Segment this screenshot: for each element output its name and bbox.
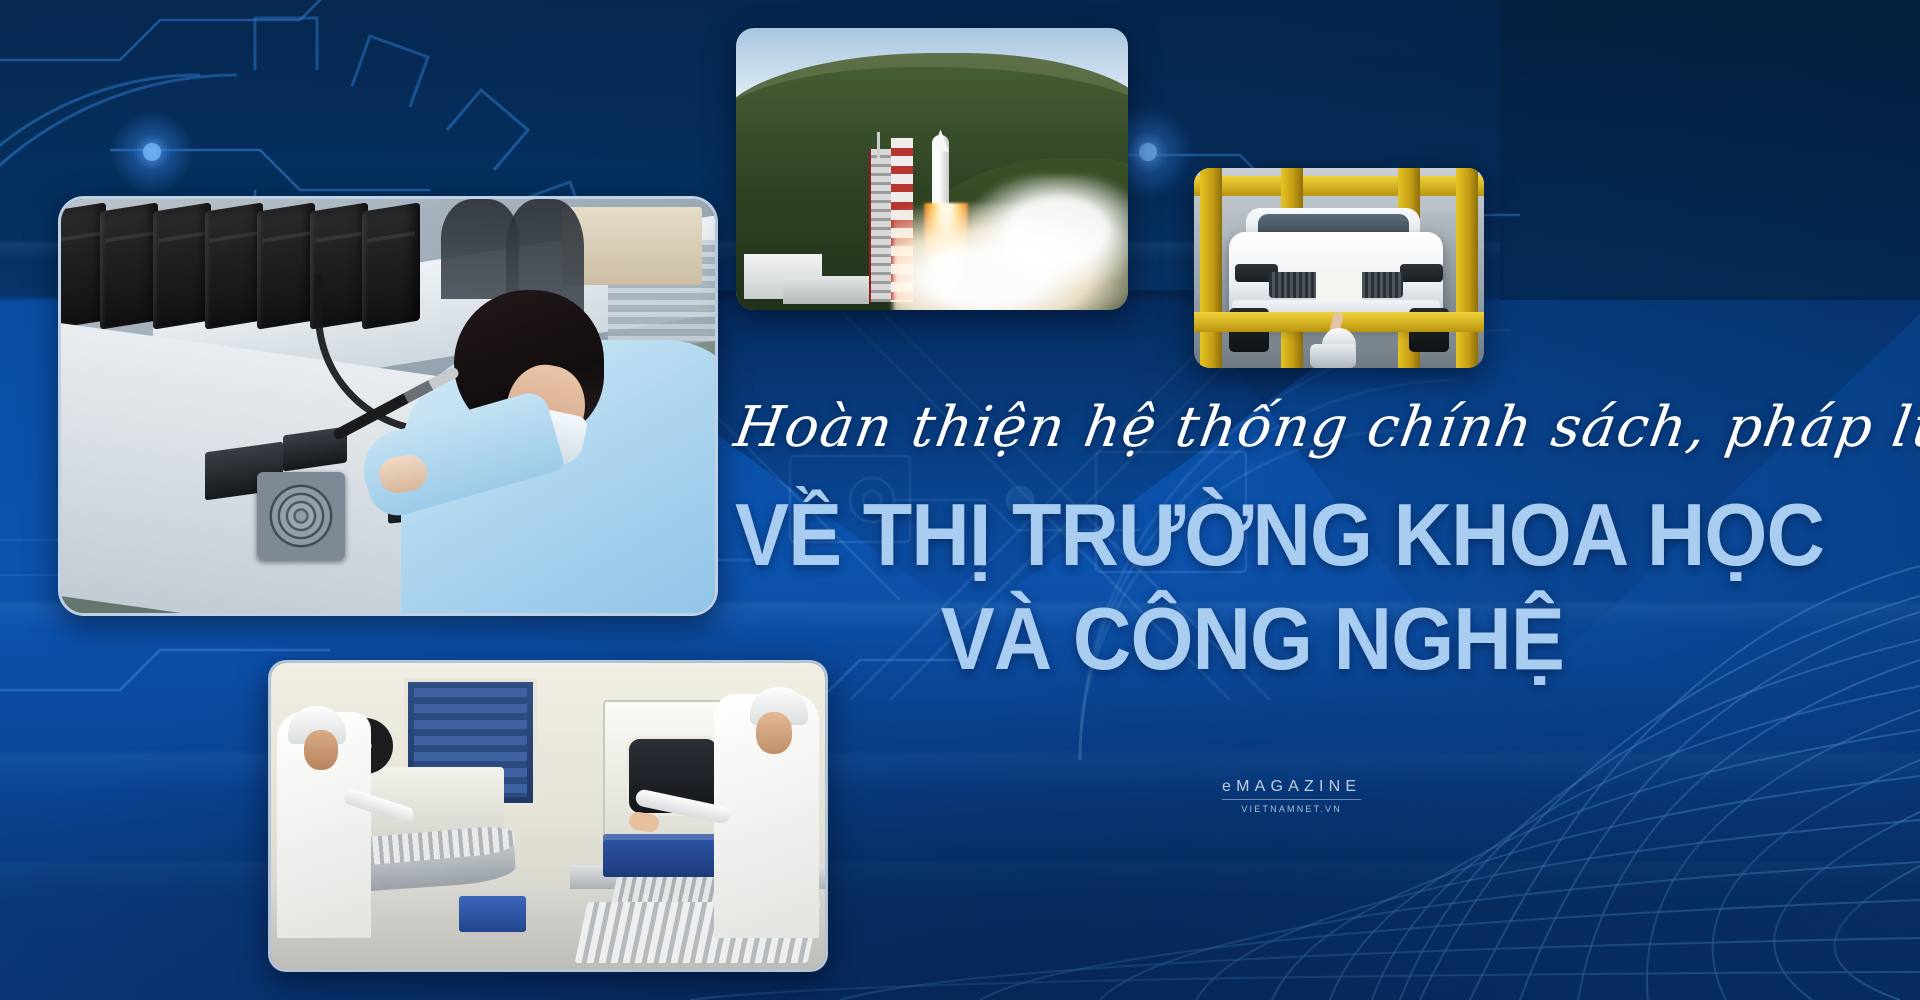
car-assembly-photo [1194,168,1484,368]
headline-line-2: VÀ CÔNG NGHỆ [781,595,1834,683]
pharmaceutical-cleanroom-photo [268,660,828,972]
cover-stage: Hoàn thiện hệ thống chính sách, pháp luậ… [0,0,1920,1000]
title-block: Hoàn thiện hệ thống chính sách, pháp luậ… [735,398,1880,683]
electronics-assembly-photo [58,196,718,616]
logo-main-text: eMAGAZINE [1222,778,1361,800]
rocket-launch-photo [736,28,1128,310]
logo-sub-text: VIETNAMNET.VN [1222,804,1361,814]
script-subtitle: Hoàn thiện hệ thống chính sách, pháp luậ… [730,398,1884,457]
emagazine-logo: eMAGAZINE VIETNAMNET.VN [1222,778,1361,814]
headline-line-1: VỀ THỊ TRƯỜNG KHOA HỌC [735,491,1788,579]
